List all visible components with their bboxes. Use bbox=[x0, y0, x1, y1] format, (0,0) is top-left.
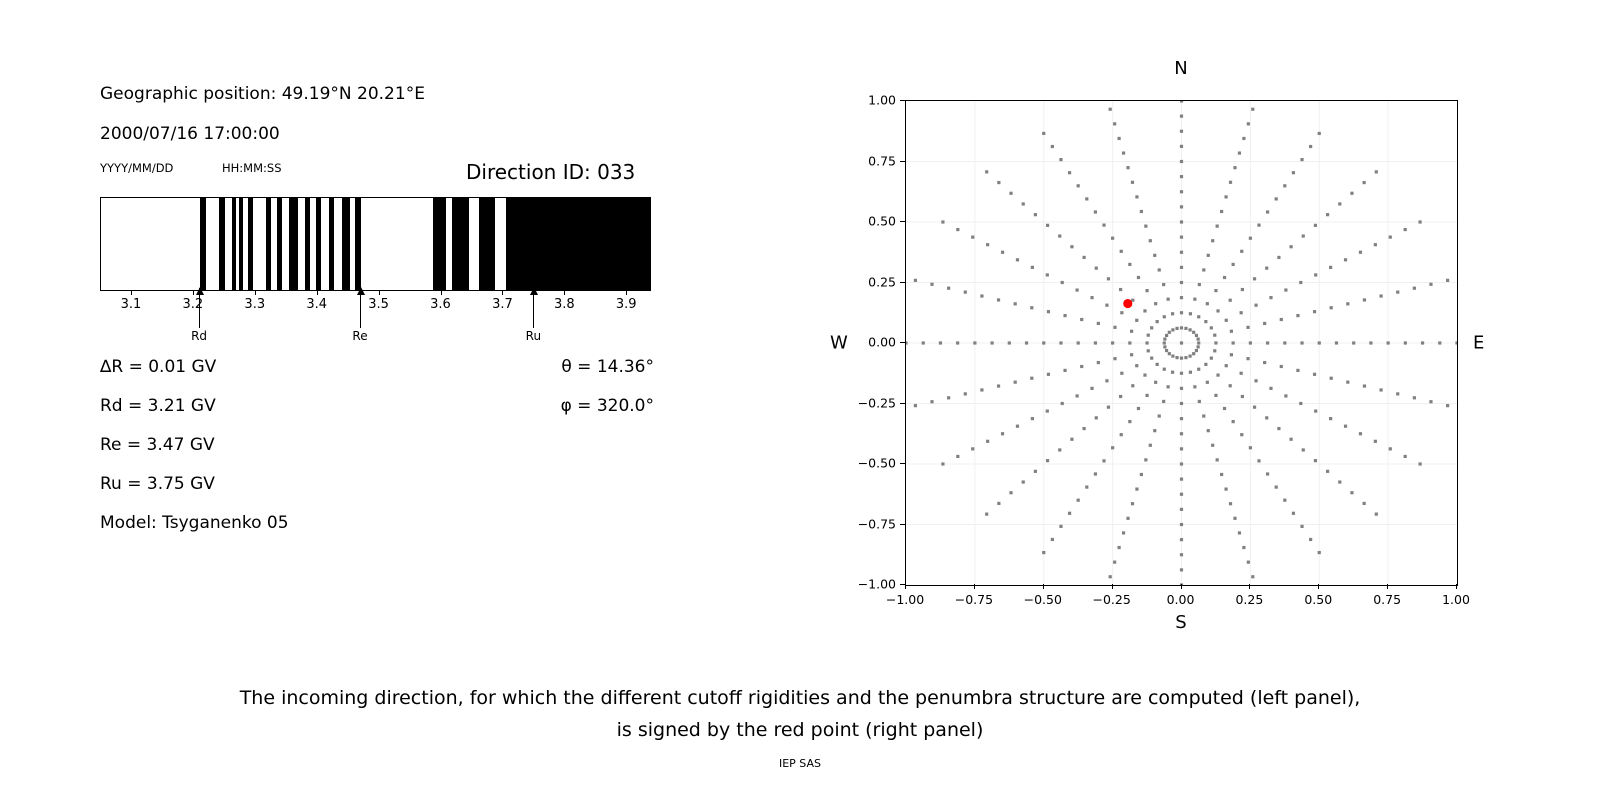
direction-sample-point bbox=[1126, 517, 1129, 520]
direction-sample-point bbox=[1302, 234, 1305, 237]
direction-sample-point bbox=[1149, 444, 1152, 447]
direction-sample-point bbox=[1171, 371, 1174, 374]
param-model: Model: Tsyganenko 05 bbox=[100, 513, 289, 533]
direction-sample-point bbox=[1118, 137, 1121, 140]
penumbra-marker-rd bbox=[199, 288, 200, 328]
direction-sample-point bbox=[1283, 184, 1286, 187]
direction-sample-point bbox=[1107, 406, 1110, 409]
direction-sample-point bbox=[1283, 499, 1286, 502]
direction-sample-point bbox=[1249, 341, 1252, 344]
direction-sample-point bbox=[1120, 372, 1123, 375]
direction-sample-point bbox=[1204, 320, 1207, 323]
direction-sample-point bbox=[1379, 388, 1382, 391]
direction-sample-point bbox=[1063, 314, 1066, 317]
direction-sample-point bbox=[1216, 373, 1219, 376]
penumbra-x-tick bbox=[255, 291, 256, 295]
direction-sample-point bbox=[1156, 320, 1159, 323]
direction-sample-point bbox=[1214, 289, 1217, 292]
direction-sample-point bbox=[1192, 331, 1195, 334]
direction-sample-point bbox=[1299, 402, 1302, 405]
direction-sample-point bbox=[1363, 181, 1366, 184]
direction-sample-point bbox=[1180, 553, 1183, 556]
direction-sample-point bbox=[985, 170, 988, 173]
direction-map-y-tick-label: 0.25 bbox=[834, 274, 896, 289]
direction-sample-point bbox=[1016, 258, 1019, 261]
direction-sample-point bbox=[1216, 225, 1219, 228]
direction-sample-point bbox=[1265, 416, 1268, 419]
direction-sample-point bbox=[1094, 341, 1097, 344]
direction-sample-point bbox=[1280, 318, 1283, 321]
direction-sample-point bbox=[1254, 379, 1257, 382]
direction-sample-point bbox=[986, 440, 989, 443]
direction-sample-point bbox=[1047, 373, 1050, 376]
direction-sample-point bbox=[1374, 243, 1377, 246]
direction-sample-point bbox=[964, 291, 967, 294]
direction-sample-point bbox=[1455, 341, 1457, 344]
direction-map-y-tick-label: −1.00 bbox=[834, 577, 896, 592]
direction-sample-point bbox=[1094, 210, 1097, 213]
penumbra-forbidden-band bbox=[433, 198, 446, 290]
direction-sample-point bbox=[1446, 279, 1449, 282]
direction-sample-point bbox=[1180, 236, 1183, 239]
direction-map-x-tick bbox=[1249, 584, 1250, 589]
direction-sample-point bbox=[1193, 298, 1196, 301]
direction-sample-point bbox=[1009, 491, 1012, 494]
penumbra-x-tick-label: 3.4 bbox=[306, 297, 327, 312]
direction-sample-point bbox=[1223, 276, 1226, 279]
direction-sample-point bbox=[1163, 345, 1166, 348]
direction-map-y-tick bbox=[900, 463, 905, 464]
direction-sample-point bbox=[1216, 458, 1219, 461]
direction-sample-point bbox=[1240, 433, 1243, 436]
direction-sample-point bbox=[1206, 381, 1209, 384]
direction-sample-point bbox=[1263, 322, 1266, 325]
direction-sample-point bbox=[1300, 341, 1303, 344]
direction-sample-point bbox=[1266, 341, 1269, 344]
direction-sample-point bbox=[1109, 108, 1112, 111]
penumbra-x-tick bbox=[131, 291, 132, 295]
direction-sample-point bbox=[1095, 267, 1098, 270]
direction-sample-point bbox=[1144, 458, 1147, 461]
direction-id-label: Direction ID: 033 bbox=[466, 160, 635, 184]
direction-sample-point bbox=[1210, 326, 1213, 329]
direction-sample-point bbox=[1213, 349, 1216, 352]
direction-sample-point bbox=[1122, 151, 1125, 154]
penumbra-x-tick-label: 3.6 bbox=[430, 297, 451, 312]
direction-sample-point bbox=[1189, 371, 1192, 374]
penumbra-forbidden-band bbox=[200, 198, 206, 290]
direction-sample-point bbox=[1113, 326, 1116, 329]
direction-sample-point bbox=[1046, 273, 1049, 276]
datetime-label: 2000/07/16 17:00:00 bbox=[100, 124, 280, 144]
direction-sample-point bbox=[1165, 349, 1168, 352]
direction-map-x-tick bbox=[1181, 584, 1182, 589]
direction-sample-point bbox=[1214, 394, 1217, 397]
direction-sample-point bbox=[1095, 416, 1098, 419]
direction-sample-point bbox=[1251, 575, 1254, 578]
direction-sample-point bbox=[1246, 357, 1249, 360]
direction-map-y-tick-label: 1.00 bbox=[834, 93, 896, 108]
direction-sample-point bbox=[1180, 130, 1183, 133]
direction-sample-point bbox=[1022, 202, 1025, 205]
param-delta-r: ∆R = 0.01 GV bbox=[100, 357, 216, 377]
penumbra-marker-ru bbox=[533, 288, 534, 328]
direction-sample-point bbox=[1313, 373, 1316, 376]
penumbra-forbidden-band bbox=[452, 198, 469, 290]
direction-sample-point bbox=[1059, 158, 1062, 161]
direction-sample-point bbox=[1171, 312, 1174, 315]
direction-sample-point bbox=[1025, 341, 1028, 344]
direction-sample-point bbox=[1135, 319, 1138, 322]
direction-sample-point bbox=[1145, 289, 1148, 292]
direction-sample-point bbox=[1082, 256, 1085, 259]
direction-sample-point bbox=[1238, 531, 1241, 534]
direction-map-y-tick bbox=[900, 221, 905, 222]
direction-sample-point bbox=[1204, 363, 1207, 366]
direction-sample-point bbox=[1128, 263, 1131, 266]
penumbra-x-tick bbox=[441, 291, 442, 295]
penumbra-plot-area bbox=[100, 197, 651, 291]
direction-sample-point bbox=[1396, 392, 1399, 395]
penumbra-x-tick bbox=[379, 291, 380, 295]
direction-sample-point bbox=[1193, 385, 1196, 388]
direction-sample-point bbox=[1257, 224, 1260, 227]
direction-sample-point bbox=[1296, 314, 1299, 317]
penumbra-x-tick-label: 3.3 bbox=[244, 297, 265, 312]
direction-sample-point bbox=[1330, 377, 1333, 380]
direction-sample-point bbox=[1128, 420, 1131, 423]
direction-sample-point bbox=[1162, 400, 1165, 403]
direction-sample-point bbox=[1068, 171, 1071, 174]
direction-sample-point bbox=[997, 181, 1000, 184]
direction-sample-point bbox=[1180, 341, 1183, 344]
direction-sample-point bbox=[997, 502, 1000, 505]
direction-sample-point bbox=[1233, 166, 1236, 169]
direction-sample-point bbox=[1224, 487, 1227, 490]
caption-line-2: is signed by the red point (right panel) bbox=[617, 719, 984, 741]
direction-sample-point bbox=[1175, 356, 1178, 359]
direction-sample-point bbox=[1163, 337, 1166, 340]
compass-label-north: N bbox=[1174, 58, 1187, 79]
direction-sample-point bbox=[1280, 365, 1283, 368]
direction-sample-point bbox=[1113, 357, 1116, 360]
param-ru: Ru = 3.75 GV bbox=[100, 474, 215, 494]
penumbra-forbidden-band bbox=[232, 198, 236, 290]
penumbra-x-tick-label: 3.5 bbox=[368, 297, 389, 312]
direction-sample-point bbox=[1153, 254, 1156, 257]
direction-sample-point bbox=[1059, 341, 1062, 344]
direction-sample-point bbox=[1162, 283, 1165, 286]
direction-sample-point bbox=[1180, 115, 1183, 118]
penumbra-forbidden-band bbox=[289, 198, 298, 290]
direction-map-x-tick-label: −0.25 bbox=[1092, 592, 1130, 607]
penumbra-x-tick bbox=[564, 291, 565, 295]
direction-sample-point bbox=[1180, 402, 1183, 405]
direction-sample-point bbox=[1119, 395, 1122, 398]
compass-label-south: S bbox=[1175, 612, 1186, 633]
penumbra-x-tick-label: 3.9 bbox=[616, 297, 637, 312]
direction-sample-point bbox=[1137, 276, 1140, 279]
penumbra-chart: 3.13.23.33.43.53.63.73.83.9 bbox=[100, 197, 651, 291]
direction-sample-point bbox=[1085, 485, 1088, 488]
penumbra-forbidden-band bbox=[329, 198, 335, 290]
direction-map-y-tick-label: −0.50 bbox=[834, 456, 896, 471]
direction-sample-point bbox=[1296, 369, 1299, 372]
direction-sample-point bbox=[1063, 369, 1066, 372]
direction-sample-point bbox=[1189, 312, 1192, 315]
direction-sample-point bbox=[1102, 224, 1105, 227]
direction-sample-point bbox=[1097, 322, 1100, 325]
direction-sample-point bbox=[1223, 407, 1226, 410]
direction-map-y-tick-label: −0.25 bbox=[834, 395, 896, 410]
direction-map-y-tick bbox=[900, 100, 905, 101]
direction-sample-point bbox=[1131, 181, 1134, 184]
direction-sample-point bbox=[1070, 438, 1073, 441]
direction-sample-point bbox=[1352, 341, 1355, 344]
direction-sample-point bbox=[1225, 319, 1228, 322]
direction-sample-point bbox=[1363, 298, 1366, 301]
direction-sample-point bbox=[947, 396, 950, 399]
direction-sample-point bbox=[1168, 331, 1171, 334]
direction-sample-point bbox=[1046, 224, 1049, 227]
direction-sample-point bbox=[964, 392, 967, 395]
penumbra-x-tick bbox=[626, 291, 627, 295]
param-phi: φ = 320.0° bbox=[394, 396, 654, 416]
direction-sample-point bbox=[914, 279, 917, 282]
direction-sample-point bbox=[1180, 326, 1183, 329]
direction-sample-point bbox=[1318, 551, 1321, 554]
direction-sample-point bbox=[1241, 288, 1244, 291]
penumbra-forbidden-band bbox=[342, 198, 350, 290]
direction-sample-point bbox=[1180, 447, 1183, 450]
direction-sample-point bbox=[1421, 341, 1424, 344]
direction-sample-point bbox=[941, 462, 944, 465]
direction-map-x-tick bbox=[905, 584, 906, 589]
direction-sample-point bbox=[1284, 288, 1287, 291]
direction-sample-point bbox=[1350, 192, 1353, 195]
direction-sample-point bbox=[1180, 281, 1183, 284]
penumbra-forbidden-band bbox=[479, 198, 495, 290]
direction-sample-point bbox=[1080, 365, 1083, 368]
direction-sample-point bbox=[1147, 349, 1150, 352]
direction-sample-point bbox=[1314, 409, 1317, 412]
direction-map-x-tick-label: 1.00 bbox=[1442, 592, 1470, 607]
direction-sample-point bbox=[1046, 409, 1049, 412]
selected-direction-point bbox=[1123, 299, 1132, 308]
direction-sample-point bbox=[1180, 175, 1183, 178]
direction-sample-point bbox=[1229, 181, 1232, 184]
direction-sample-point bbox=[1404, 455, 1407, 458]
direction-sample-point bbox=[1206, 302, 1209, 305]
direction-sample-point bbox=[1051, 145, 1054, 148]
direction-sample-point bbox=[1195, 334, 1198, 337]
direction-sample-point bbox=[1154, 381, 1157, 384]
direction-sample-point bbox=[1076, 394, 1079, 397]
direction-sample-point bbox=[1120, 250, 1123, 253]
direction-sample-point bbox=[1313, 310, 1316, 313]
footer-attribution: IEP SAS bbox=[779, 757, 821, 770]
direction-sample-point bbox=[973, 341, 976, 344]
direction-sample-point bbox=[1229, 299, 1232, 302]
direction-sample-point bbox=[1131, 502, 1134, 505]
direction-map-svg bbox=[906, 101, 1457, 585]
direction-sample-point bbox=[1230, 330, 1233, 333]
penumbra-x-tick bbox=[193, 291, 194, 295]
direction-sample-point bbox=[1137, 407, 1140, 410]
direction-sample-point bbox=[1197, 337, 1200, 340]
direction-sample-point bbox=[1242, 137, 1245, 140]
direction-sample-point bbox=[1292, 171, 1295, 174]
penumbra-marker-label-re: Re bbox=[352, 329, 367, 343]
direction-sample-point bbox=[1230, 353, 1233, 356]
direction-sample-point bbox=[1326, 470, 1329, 473]
direction-sample-point bbox=[1180, 568, 1183, 571]
direction-sample-point bbox=[1085, 197, 1088, 200]
direction-sample-point bbox=[1184, 356, 1187, 359]
direction-sample-point bbox=[1396, 291, 1399, 294]
direction-sample-point bbox=[1241, 395, 1244, 398]
direction-sample-point bbox=[1197, 368, 1200, 371]
direction-sample-point bbox=[1350, 491, 1353, 494]
direction-sample-point bbox=[1144, 225, 1147, 228]
penumbra-forbidden-band bbox=[277, 198, 283, 290]
direction-sample-point bbox=[1257, 459, 1260, 462]
direction-sample-point bbox=[1233, 517, 1236, 520]
direction-sample-point bbox=[1249, 446, 1252, 449]
direction-sample-point bbox=[1224, 195, 1227, 198]
direction-sample-point bbox=[1047, 310, 1050, 313]
direction-sample-point bbox=[1180, 160, 1183, 163]
direction-sample-point bbox=[1102, 459, 1105, 462]
direction-sample-point bbox=[1022, 480, 1025, 483]
direction-sample-point bbox=[1338, 480, 1341, 483]
direction-sample-point bbox=[1077, 499, 1080, 502]
direction-sample-point bbox=[1363, 384, 1366, 387]
direction-sample-point bbox=[1335, 341, 1338, 344]
direction-sample-point bbox=[1077, 184, 1080, 187]
direction-sample-point bbox=[1111, 237, 1114, 240]
direction-sample-point bbox=[1061, 402, 1064, 405]
direction-sample-point bbox=[1070, 245, 1073, 248]
direction-sample-point bbox=[1059, 525, 1062, 528]
penumbra-x-tick-label: 3.7 bbox=[492, 297, 513, 312]
direction-sample-point bbox=[1446, 404, 1449, 407]
direction-sample-point bbox=[1189, 354, 1192, 357]
direction-sample-point bbox=[1130, 330, 1133, 333]
direction-map-x-tick-label: 0.50 bbox=[1304, 592, 1332, 607]
date-format-hint: YYYY/MM/DD bbox=[100, 161, 173, 175]
direction-sample-point bbox=[1247, 561, 1250, 564]
direction-sample-point bbox=[1153, 429, 1156, 432]
direction-sample-point bbox=[1318, 132, 1321, 135]
direction-sample-point bbox=[1143, 309, 1146, 312]
caption-line-1: The incoming direction, for which the di… bbox=[240, 687, 1361, 709]
direction-sample-point bbox=[1030, 377, 1033, 380]
direction-sample-point bbox=[922, 341, 925, 344]
direction-sample-point bbox=[1119, 288, 1122, 291]
direction-sample-point bbox=[1329, 266, 1332, 269]
direction-sample-point bbox=[1120, 433, 1123, 436]
direction-sample-point bbox=[1232, 263, 1235, 266]
direction-sample-point bbox=[1214, 341, 1217, 344]
direction-sample-point bbox=[1387, 341, 1390, 344]
direction-sample-point bbox=[1042, 132, 1045, 135]
direction-sample-point bbox=[1197, 345, 1200, 348]
direction-map-x-tick bbox=[1318, 584, 1319, 589]
geographic-position-label: Geographic position: 49.19°N 20.21°E bbox=[100, 84, 425, 104]
direction-sample-point bbox=[1042, 341, 1045, 344]
direction-map-x-tick bbox=[1043, 584, 1044, 589]
direction-sample-point bbox=[1346, 302, 1349, 305]
direction-map-y-tick bbox=[900, 524, 905, 525]
direction-map-x-tick-label: −0.50 bbox=[1024, 592, 1062, 607]
direction-sample-point bbox=[1369, 341, 1372, 344]
direction-sample-point bbox=[1232, 341, 1235, 344]
direction-map-chart: N S W E −1.00−0.75−0.50−0.250.000.250.50… bbox=[905, 100, 1458, 586]
direction-sample-point bbox=[1014, 381, 1017, 384]
direction-sample-point bbox=[1374, 440, 1377, 443]
direction-sample-point bbox=[1429, 400, 1432, 403]
direction-sample-point bbox=[947, 287, 950, 290]
direction-sample-point bbox=[1126, 166, 1129, 169]
direction-map-x-tick bbox=[1456, 584, 1457, 589]
direction-sample-point bbox=[1180, 493, 1183, 496]
direction-sample-point bbox=[1429, 283, 1432, 286]
direction-sample-point bbox=[1154, 302, 1157, 305]
direction-sample-point bbox=[1198, 400, 1201, 403]
direction-sample-point bbox=[1122, 531, 1125, 534]
direction-sample-point bbox=[1082, 427, 1085, 430]
param-theta: θ = 14.36° bbox=[394, 357, 654, 377]
direction-sample-point bbox=[1180, 432, 1183, 435]
direction-sample-point bbox=[941, 220, 944, 223]
direction-sample-point bbox=[1076, 288, 1079, 291]
direction-sample-point bbox=[1180, 251, 1183, 254]
direction-sample-point bbox=[1344, 258, 1347, 261]
direction-sample-point bbox=[1284, 394, 1287, 397]
direction-sample-point bbox=[1251, 108, 1254, 111]
direction-sample-point bbox=[1105, 304, 1108, 307]
direction-sample-point bbox=[1158, 268, 1161, 271]
param-re: Re = 3.47 GV bbox=[100, 435, 215, 455]
direction-sample-point bbox=[1090, 387, 1093, 390]
direction-sample-point bbox=[1314, 459, 1317, 462]
direction-sample-point bbox=[971, 236, 974, 239]
direction-sample-point bbox=[1180, 387, 1183, 390]
direction-sample-point bbox=[1207, 254, 1210, 257]
direction-sample-point bbox=[1289, 245, 1292, 248]
direction-sample-point bbox=[1211, 239, 1214, 242]
penumbra-x-tick-label: 3.1 bbox=[121, 297, 142, 312]
direction-sample-point bbox=[1145, 394, 1148, 397]
direction-sample-point bbox=[956, 228, 959, 231]
direction-sample-point bbox=[1269, 296, 1272, 299]
direction-sample-point bbox=[1165, 334, 1168, 337]
direction-sample-point bbox=[1229, 502, 1232, 505]
direction-sample-point bbox=[1130, 353, 1133, 356]
direction-sample-point bbox=[1180, 538, 1183, 541]
direction-sample-point bbox=[1363, 502, 1366, 505]
direction-sample-point bbox=[1213, 334, 1216, 337]
direction-sample-point bbox=[1118, 546, 1121, 549]
direction-sample-point bbox=[1156, 363, 1159, 366]
time-format-hint: HH:MM:SS bbox=[222, 161, 282, 175]
direction-sample-point bbox=[1128, 341, 1131, 344]
penumbra-x-tick bbox=[317, 291, 318, 295]
direction-sample-point bbox=[1111, 341, 1114, 344]
direction-sample-point bbox=[1001, 251, 1004, 254]
direction-sample-point bbox=[1359, 432, 1362, 435]
